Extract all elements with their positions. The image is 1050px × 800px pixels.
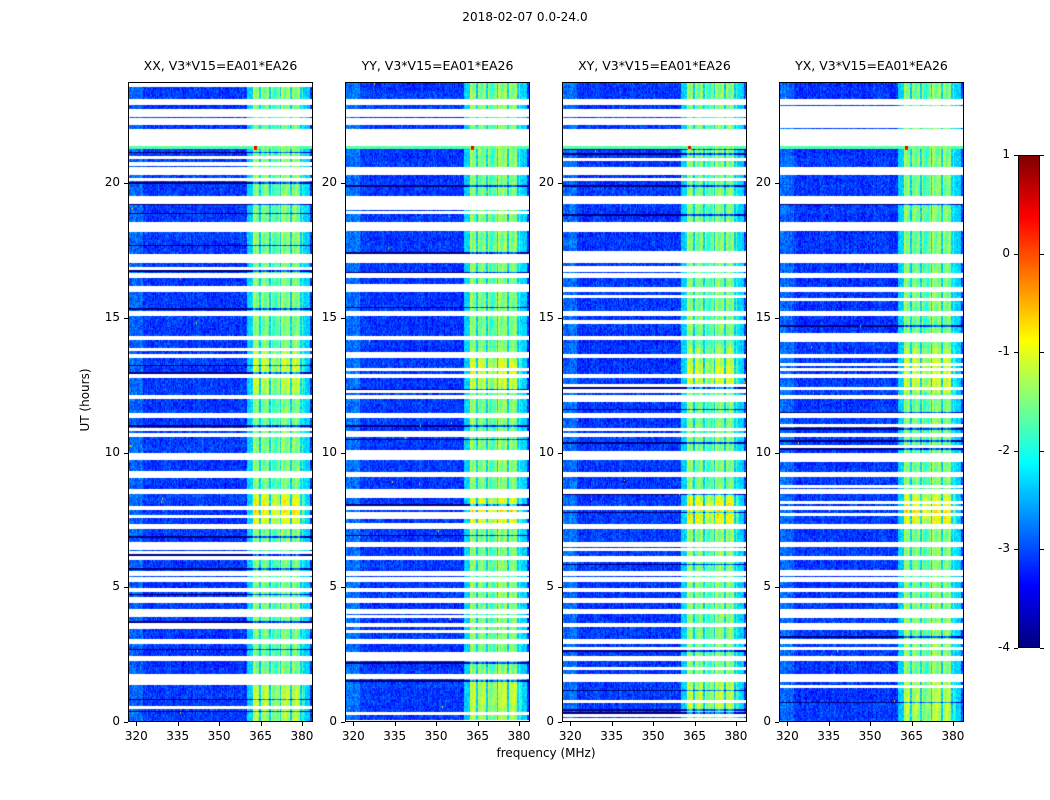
figure-suptitle: 2018-02-07 0.0-24.0 bbox=[0, 10, 1050, 24]
x-tick-mark bbox=[353, 722, 354, 726]
colorbar-tick-label: -4 bbox=[962, 640, 1010, 654]
colorbar-tick-label: -1 bbox=[962, 344, 1010, 358]
colorbar-tick-label: -2 bbox=[962, 443, 1010, 457]
y-tick-mark bbox=[558, 183, 562, 184]
x-tick-mark bbox=[478, 722, 479, 726]
x-tick-mark bbox=[436, 722, 437, 726]
x-tick-mark bbox=[136, 722, 137, 726]
panel-title-xy: XY, V3*V15=EA01*EA26 bbox=[532, 58, 777, 73]
y-tick-mark bbox=[341, 722, 345, 723]
y-tick-label: 15 bbox=[510, 310, 554, 324]
colorbar-tick-mark bbox=[1040, 648, 1044, 649]
colorbar-tick-mark bbox=[1014, 155, 1018, 156]
colorbar-tick-mark bbox=[1040, 155, 1044, 156]
spectrum-panel-xx bbox=[128, 82, 313, 722]
y-tick-mark bbox=[124, 722, 128, 723]
y-axis-label: UT (hours) bbox=[78, 330, 92, 470]
y-tick-label: 15 bbox=[293, 310, 337, 324]
y-tick-mark bbox=[775, 587, 779, 588]
colorbar bbox=[1018, 155, 1040, 648]
x-tick-mark bbox=[870, 722, 871, 726]
y-tick-mark bbox=[124, 587, 128, 588]
y-tick-label: 20 bbox=[727, 175, 771, 189]
colorbar-tick-mark bbox=[1014, 648, 1018, 649]
y-tick-label: 0 bbox=[510, 714, 554, 728]
y-tick-label: 15 bbox=[76, 310, 120, 324]
x-tick-mark bbox=[912, 722, 913, 726]
y-tick-label: 20 bbox=[510, 175, 554, 189]
y-tick-label: 5 bbox=[510, 579, 554, 593]
x-axis-label: frequency (MHz) bbox=[128, 746, 964, 760]
colorbar-tick-mark bbox=[1040, 549, 1044, 550]
x-tick-mark bbox=[653, 722, 654, 726]
y-tick-mark bbox=[341, 183, 345, 184]
y-tick-mark bbox=[775, 453, 779, 454]
y-tick-label: 5 bbox=[293, 579, 337, 593]
waterfall-image-xy bbox=[563, 83, 746, 721]
waterfall-image-xx bbox=[129, 83, 312, 721]
colorbar-tick-mark bbox=[1014, 254, 1018, 255]
spectrum-panel-yx bbox=[779, 82, 964, 722]
y-tick-mark bbox=[558, 587, 562, 588]
y-tick-label: 20 bbox=[293, 175, 337, 189]
colorbar-tick-label: 1 bbox=[962, 147, 1010, 161]
y-tick-mark bbox=[124, 183, 128, 184]
x-tick-mark bbox=[829, 722, 830, 726]
x-tick-mark bbox=[395, 722, 396, 726]
x-tick-mark bbox=[612, 722, 613, 726]
colorbar-gradient bbox=[1019, 156, 1039, 647]
x-tick-mark bbox=[570, 722, 571, 726]
colorbar-tick-mark bbox=[1040, 254, 1044, 255]
y-tick-mark bbox=[124, 318, 128, 319]
y-tick-label: 10 bbox=[727, 445, 771, 459]
y-tick-label: 0 bbox=[76, 714, 120, 728]
y-tick-mark bbox=[558, 453, 562, 454]
x-tick-mark bbox=[178, 722, 179, 726]
y-tick-mark bbox=[341, 453, 345, 454]
colorbar-tick-label: -3 bbox=[962, 541, 1010, 555]
y-tick-label: 15 bbox=[727, 310, 771, 324]
colorbar-tick-mark bbox=[1014, 549, 1018, 550]
spectrum-panel-yy bbox=[345, 82, 530, 722]
x-tick-mark bbox=[219, 722, 220, 726]
y-tick-label: 5 bbox=[76, 579, 120, 593]
colorbar-tick-mark bbox=[1040, 352, 1044, 353]
x-tick-mark bbox=[787, 722, 788, 726]
x-tick-mark bbox=[261, 722, 262, 726]
y-tick-label: 5 bbox=[727, 579, 771, 593]
figure-canvas: 2018-02-07 0.0-24.0 XX, V3*V15=EA01*EA26… bbox=[0, 0, 1050, 800]
y-tick-mark bbox=[775, 318, 779, 319]
y-tick-mark bbox=[775, 722, 779, 723]
y-tick-mark bbox=[558, 318, 562, 319]
y-tick-label: 0 bbox=[727, 714, 771, 728]
panel-title-yy: YY, V3*V15=EA01*EA26 bbox=[315, 58, 560, 73]
colorbar-tick-mark bbox=[1040, 451, 1044, 452]
y-tick-mark bbox=[124, 453, 128, 454]
colorbar-tick-mark bbox=[1014, 352, 1018, 353]
y-tick-label: 0 bbox=[293, 714, 337, 728]
x-tick-label: 380 bbox=[494, 729, 544, 743]
y-tick-mark bbox=[341, 318, 345, 319]
x-tick-mark bbox=[953, 722, 954, 726]
y-tick-label: 10 bbox=[293, 445, 337, 459]
y-tick-label: 10 bbox=[510, 445, 554, 459]
waterfall-image-yy bbox=[346, 83, 529, 721]
y-tick-mark bbox=[775, 183, 779, 184]
panel-title-yx: YX, V3*V15=EA01*EA26 bbox=[749, 58, 994, 73]
spectrum-panel-xy bbox=[562, 82, 747, 722]
x-tick-mark bbox=[695, 722, 696, 726]
y-tick-mark bbox=[558, 722, 562, 723]
x-tick-label: 380 bbox=[277, 729, 327, 743]
panel-title-xx: XX, V3*V15=EA01*EA26 bbox=[98, 58, 343, 73]
x-tick-label: 380 bbox=[928, 729, 978, 743]
x-tick-label: 380 bbox=[711, 729, 761, 743]
colorbar-tick-label: 0 bbox=[962, 246, 1010, 260]
waterfall-image-yx bbox=[780, 83, 963, 721]
y-tick-label: 20 bbox=[76, 175, 120, 189]
colorbar-tick-mark bbox=[1014, 451, 1018, 452]
y-tick-mark bbox=[341, 587, 345, 588]
